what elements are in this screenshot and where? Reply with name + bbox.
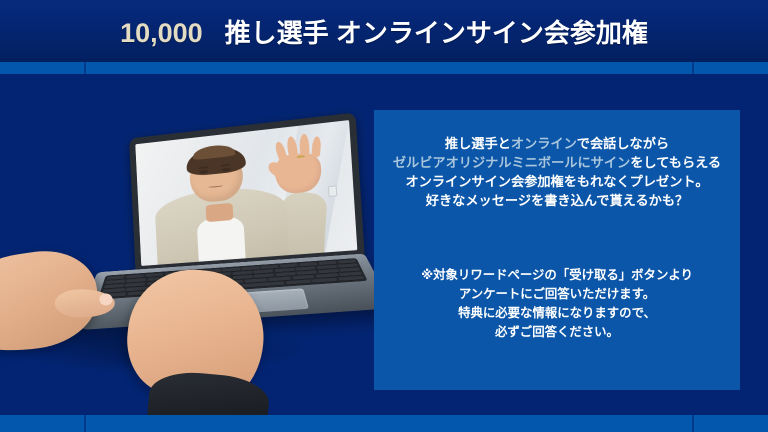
benefit-line: オンラインサイン会参加権をもれなくプレゼント。 [393,172,721,191]
info-panel: 推し選手とオンラインで会話しながら ゼルビアオリジナルミニボールにサインをしても… [374,110,740,390]
laptop-video-call-photo: MacBook Pro [0,74,380,415]
benefit-segment: 好きなメッセージを書き込んで貰えるかも？ [426,193,688,208]
band-seam [84,415,86,432]
benefit-segment-highlight: ゼルビアオリジナルミニボールにサイン [393,155,630,170]
laptop-screen [135,120,357,266]
benefit-segment: 推し選手と [445,136,511,151]
reward-title: 推し選手 オンラインサイン会参加権 [225,13,648,50]
key [338,276,364,281]
instruction-notes: ※対象リワードページの「受け取る」ボタンより アンケートにご回答いただけます。 … [421,266,693,342]
benefit-segment-highlight: オンライン [511,136,577,151]
accent-band-bottom [0,415,768,432]
benefit-line: 好きなメッセージを書き込んで貰えるかも？ [393,191,721,210]
benefit-segment: をしてもらえる [630,155,721,170]
header-band: 10,000 推し選手 オンラインサイン会参加権 [0,0,768,62]
benefit-segment: で会話しながら [577,136,669,151]
band-seam [692,62,694,74]
band-seam [692,415,694,432]
reward-amount: 10,000 [120,18,203,49]
benefit-line: ゼルビアオリジナルミニボールにサインをしてもらえる [393,153,721,172]
benefit-segment: オンラインサイン会参加権をもれなくプレゼント。 [405,174,708,189]
video-call-frame [135,120,357,266]
promo-slide: 10,000 推し選手 オンラインサイン会参加権 [0,0,768,432]
band-seam [84,62,86,74]
person-neck [205,202,233,222]
benefit-line: 推し選手とオンラインで会話しながら [393,134,721,153]
accent-band-top [0,62,768,74]
note-line: アンケートにご回答いただけます。 [421,285,693,304]
laptop-lid: MacBook Pro [129,112,365,276]
note-line: 特典に必要な情報になりますので、 [421,304,693,323]
page-title: 10,000 推し選手 オンラインサイン会参加権 [120,13,648,50]
key [312,278,338,283]
note-line: ※対象リワードページの「受け取る」ボタンより [421,266,693,285]
wall-outlet [328,185,337,197]
note-line: 必ずご回答ください。 [421,323,693,342]
key [286,280,312,285]
benefit-description: 推し選手とオンラインで会話しながら ゼルビアオリジナルミニボールにサインをしても… [393,134,721,210]
